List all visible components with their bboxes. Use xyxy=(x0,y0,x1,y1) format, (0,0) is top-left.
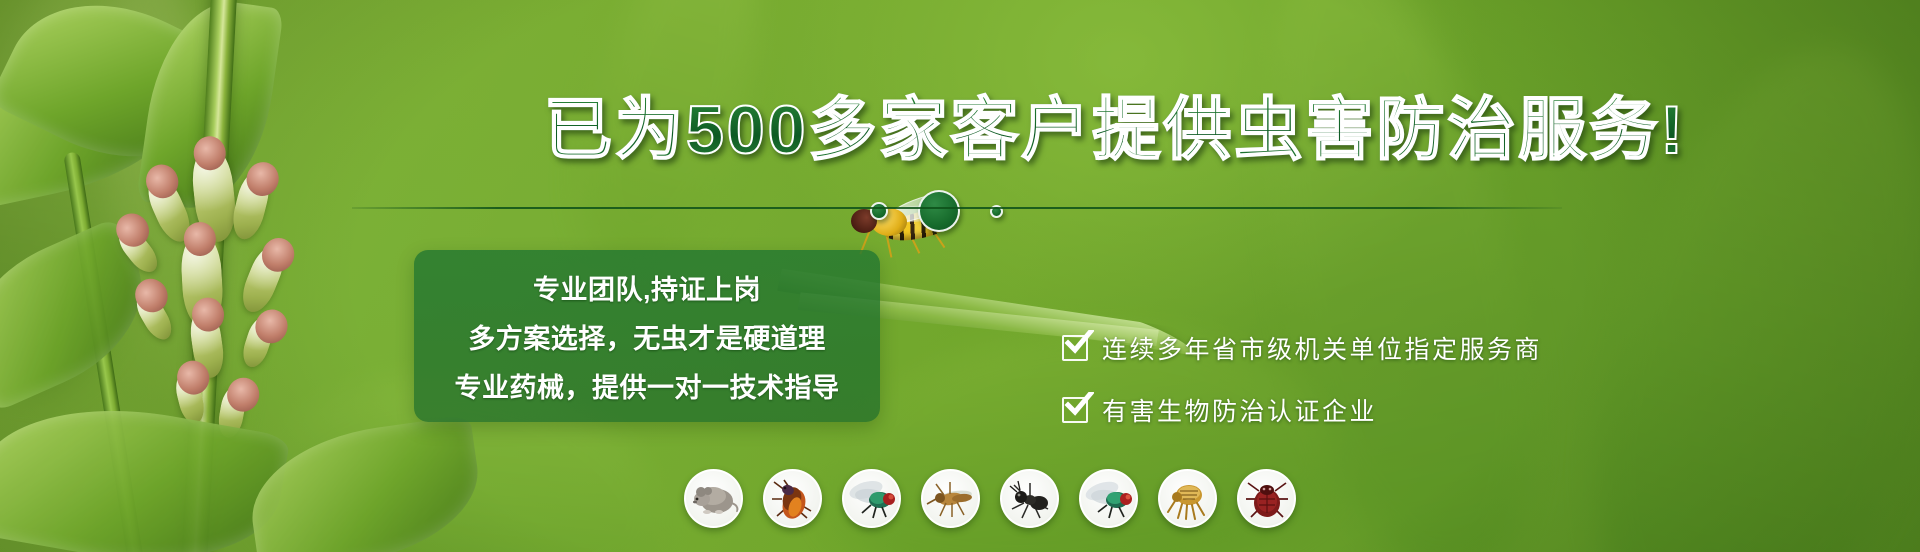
decorative-dots xyxy=(870,190,1003,232)
cockroach-icon[interactable] xyxy=(763,469,822,528)
list-item: 有害生物防治认证企业 xyxy=(1062,392,1542,428)
dot-small-icon xyxy=(870,202,888,220)
flea-icon[interactable] xyxy=(1158,469,1217,528)
checkbox-checked-icon xyxy=(1062,397,1088,423)
divider xyxy=(352,207,1562,209)
blowfly-icon[interactable] xyxy=(1079,469,1138,528)
credential-text: 有害生物防治认证企业 xyxy=(1102,392,1377,428)
slogan-line-1: 专业团队,持证上岗 xyxy=(533,268,761,307)
credential-text: 连续多年省市级机关单位指定服务商 xyxy=(1102,330,1542,366)
pest-icon-row xyxy=(684,469,1296,528)
slogan-line-2: 多方案选择，无虫才是硬道理 xyxy=(468,317,826,356)
fly-icon[interactable] xyxy=(842,469,901,528)
ant-icon[interactable] xyxy=(1000,469,1059,528)
mosquito-icon[interactable] xyxy=(921,469,980,528)
pest-control-hero-banner: 已为500多家客户提供虫害防治服务! 已为500多家客户提供虫害防治服务! 专业… xyxy=(0,0,1920,552)
slogan-panel: 专业团队,持证上岗 多方案选择，无虫才是硬道理 专业药械，提供一对一技术指导 xyxy=(414,250,880,422)
mouse-icon[interactable] xyxy=(684,469,743,528)
list-item: 连续多年省市级机关单位指定服务商 xyxy=(1062,330,1542,366)
credential-list: 连续多年省市级机关单位指定服务商 有害生物防治认证企业 xyxy=(1062,330,1542,428)
checkbox-checked-icon xyxy=(1062,335,1088,361)
dot-large-icon xyxy=(918,190,960,232)
page-title: 已为500多家客户提供虫害防治服务! xyxy=(0,74,1920,173)
slogan-line-3: 专业药械，提供一对一技术指导 xyxy=(455,366,840,405)
headline-wrapper: 已为500多家客户提供虫害防治服务! 已为500多家客户提供虫害防治服务! xyxy=(0,0,1920,170)
bedbug-icon[interactable] xyxy=(1237,469,1296,528)
